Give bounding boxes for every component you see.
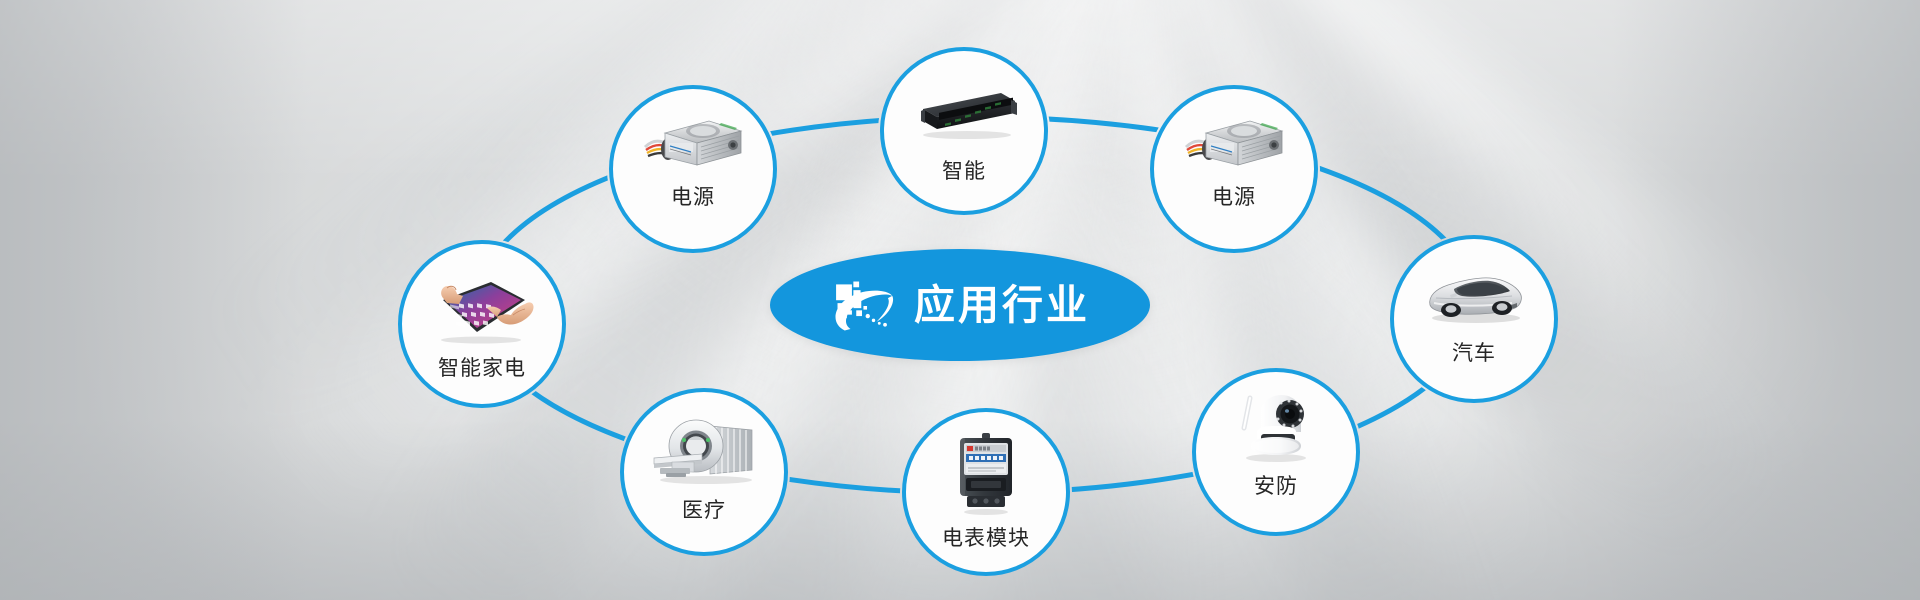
ip-camera-icon xyxy=(1233,390,1319,464)
sports-car-icon xyxy=(1420,265,1528,327)
banner-stage: 应用行业 xyxy=(0,0,1920,600)
node-label: 医疗 xyxy=(682,500,726,521)
node-smart[interactable]: 智能 xyxy=(880,47,1048,215)
center-title: 应用行业 xyxy=(914,285,1094,326)
node-meter[interactable]: 电表模块 xyxy=(902,408,1070,576)
node-appliance[interactable]: 智能家电 xyxy=(398,240,566,408)
node-auto[interactable]: 汽车 xyxy=(1390,235,1558,403)
node-security[interactable]: 安防 xyxy=(1192,368,1360,536)
tablet-touch-hand-icon xyxy=(429,270,535,344)
atx-power-supply-icon xyxy=(1182,113,1286,175)
node-label: 电源 xyxy=(671,187,715,208)
ct-scanner-icon xyxy=(648,418,760,484)
electric-meter-icon xyxy=(953,432,1019,516)
atx-power-supply-icon xyxy=(641,113,745,175)
node-label: 智能 xyxy=(942,161,986,182)
node-medical[interactable]: 医疗 xyxy=(620,388,788,556)
orbit-pixel-swoosh-icon xyxy=(826,274,898,338)
node-power-right[interactable]: 电源 xyxy=(1150,85,1318,253)
node-label: 电表模块 xyxy=(942,528,1030,549)
node-label: 电源 xyxy=(1212,187,1256,208)
node-label: 安防 xyxy=(1254,476,1298,497)
node-label: 汽车 xyxy=(1452,343,1496,364)
application-industry-diagram: 应用行业 xyxy=(0,0,1920,600)
node-power-left[interactable]: 电源 xyxy=(609,85,777,253)
center-badge[interactable]: 应用行业 xyxy=(770,249,1150,361)
node-label: 智能家电 xyxy=(438,358,526,379)
rack-server-icon xyxy=(909,85,1019,139)
